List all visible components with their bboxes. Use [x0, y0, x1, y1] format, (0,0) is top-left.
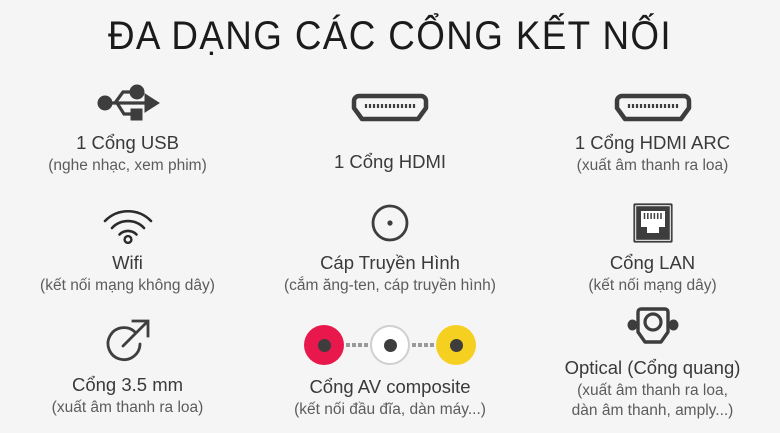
feature-subtitle: (xuất âm thanh ra loa): [525, 156, 780, 175]
feature-usb: 1 Cổng USB (nghe nhạc, xem phim): [0, 78, 255, 175]
rca-composite-icon: [255, 322, 525, 368]
rca-pin: [318, 339, 331, 352]
feature-title: Wifi: [0, 251, 255, 275]
feature-cable-tv: Cáp Truyền Hình (cắm ăng-ten, cáp truyền…: [255, 198, 525, 295]
feature-subtitle: (kết nối mạng không dây): [0, 276, 255, 295]
feature-hdmi: 1 Cổng HDMI: [255, 78, 525, 174]
feature-lan: Cổng LAN (kết nối mạng dây): [525, 198, 780, 295]
red-rca: [304, 325, 344, 365]
rca-pin: [384, 339, 397, 352]
feature-wifi: Wifi (kết nối mạng không dây): [0, 198, 255, 295]
wifi-icon: [0, 198, 255, 244]
feature-title: Cổng AV composite: [255, 375, 525, 399]
feature-title: Optical (Cổng quang): [525, 356, 780, 380]
hdmi-port-icon: [255, 78, 525, 124]
connectivity-infographic: ĐA DẠNG CÁC CỔNG KẾT NỐI 1 Cổng USB (ngh…: [0, 0, 780, 433]
feature-subtitle: (kết nối mạng dây): [525, 276, 780, 295]
feature-title: Cổng 3.5 mm: [0, 373, 255, 397]
feature-av-composite: Cổng AV composite (kết nối đầu đĩa, dàn …: [255, 322, 525, 419]
feature-title: Cổng LAN: [525, 251, 780, 275]
optical-toslink-icon: [525, 303, 780, 349]
yellow-rca: [436, 325, 476, 365]
feature-subtitle-line1: (xuất âm thanh ra loa,: [525, 381, 780, 400]
feature-title: 1 Cổng USB: [0, 131, 255, 155]
cable-dots: [410, 343, 436, 347]
feature-title: 1 Cổng HDMI: [255, 150, 525, 174]
rca-pin: [450, 339, 463, 352]
feature-optical: Optical (Cổng quang) (xuất âm thanh ra l…: [525, 303, 780, 420]
hdmi-port-icon: [525, 78, 780, 124]
audio-out-arrow-icon: [0, 320, 255, 366]
feature-title: 1 Cổng HDMI ARC: [525, 131, 780, 155]
feature-jack-35mm: Cổng 3.5 mm (xuất âm thanh ra loa): [0, 320, 255, 417]
coaxial-antenna-icon: [255, 198, 525, 244]
feature-subtitle: (xuất âm thanh ra loa): [0, 398, 255, 417]
feature-subtitle: (kết nối đầu đĩa, dàn máy...): [255, 400, 525, 419]
feature-title: Cáp Truyền Hình: [255, 251, 525, 275]
cable-dots: [344, 343, 370, 347]
lan-rj45-icon: [525, 198, 780, 244]
feature-subtitle-line2: dàn âm thanh, amply...): [525, 401, 780, 420]
feature-hdmi-arc: 1 Cổng HDMI ARC (xuất âm thanh ra loa): [525, 78, 780, 175]
feature-subtitle: (cắm ăng-ten, cáp truyền hình): [255, 276, 525, 295]
feature-subtitle: (nghe nhạc, xem phim): [0, 156, 255, 175]
usb-icon: [0, 78, 255, 124]
white-rca: [370, 325, 410, 365]
page-title: ĐA DẠNG CÁC CỔNG KẾT NỐI: [31, 12, 749, 60]
